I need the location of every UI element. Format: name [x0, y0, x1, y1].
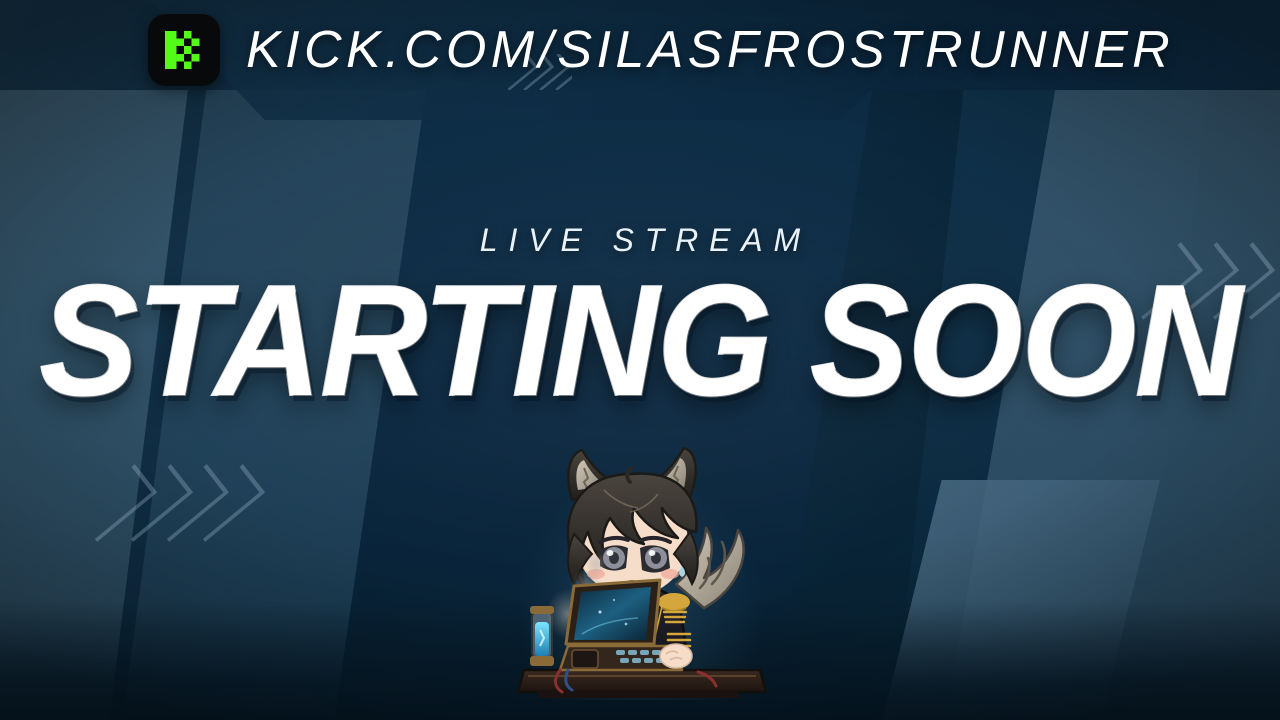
channel-url-text: KICK.COM/SILASFROSTRUNNER — [246, 24, 1174, 76]
headline-starting-soon: STARTING SOON — [38, 262, 1241, 420]
stream-overlay-canvas: KICK.COM/SILASFROSTRUNNER LIVE STREAM ST… — [0, 0, 1280, 720]
kick-logo-icon — [148, 14, 220, 86]
chibi-wolf-streamer-mascot — [508, 438, 776, 706]
brand-row: KICK.COM/SILASFROSTRUNNER — [148, 14, 1174, 86]
chevrons-left-icon — [96, 468, 240, 538]
